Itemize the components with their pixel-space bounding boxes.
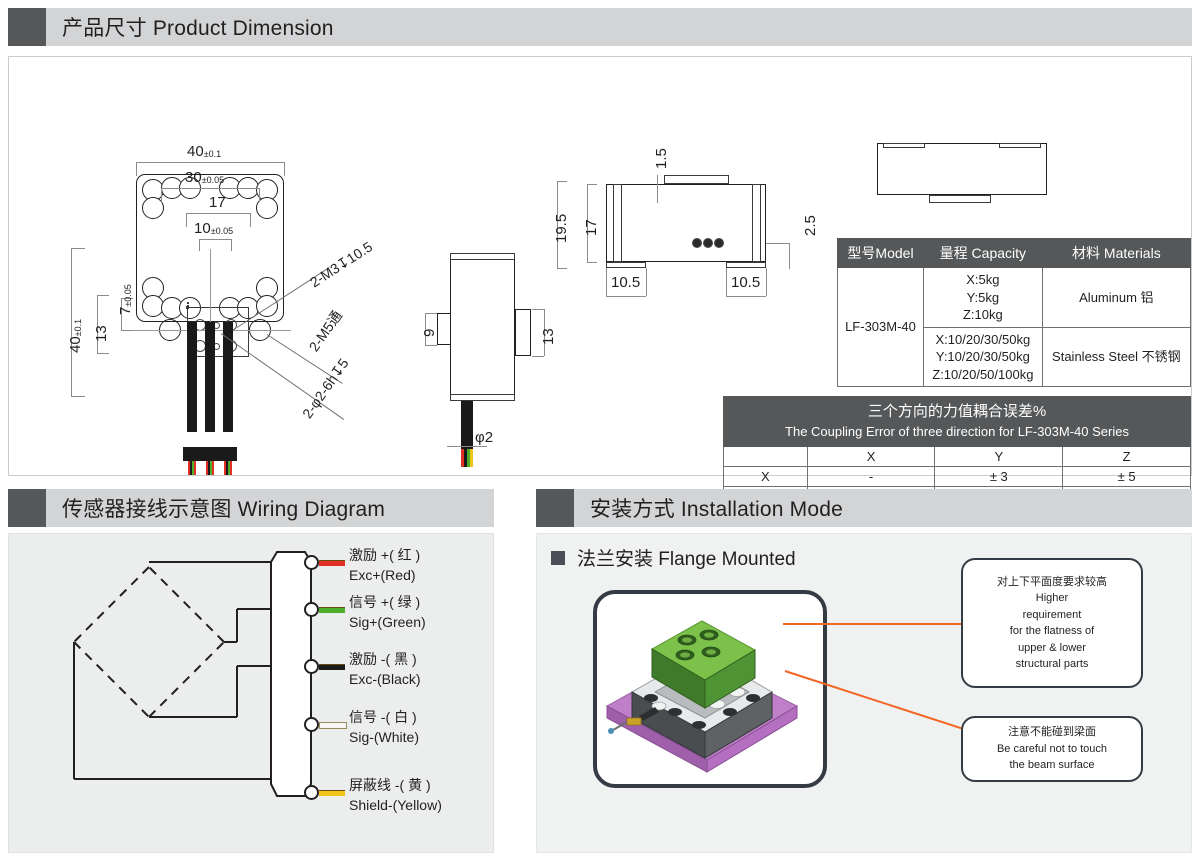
installation-mode-section: 安装方式 Installation Mode 法兰安装 Flange Mount… bbox=[536, 489, 1192, 853]
aux-view-body bbox=[877, 143, 1047, 195]
wire-stub-exc-plus bbox=[319, 560, 345, 566]
ext-line bbox=[161, 188, 162, 202]
section-tab-marker bbox=[8, 8, 46, 46]
cell-capacity-alu: X:5kg Y:5kg Z:10kg bbox=[923, 268, 1042, 328]
center-pattern-outline bbox=[187, 302, 189, 304]
wire-label-sig-minus: 信号 -( 白 ) Sig-(White) bbox=[349, 707, 419, 748]
side-view-bottom-plate bbox=[450, 394, 515, 401]
dim-19-5: 19.5 bbox=[553, 214, 570, 243]
wire-terminal-sig-plus bbox=[304, 602, 319, 617]
side-view-top-plate bbox=[450, 253, 515, 260]
wire-terminal-sig-minus bbox=[304, 717, 319, 732]
model-specification-table: 型号Model 量程 Capacity 材料 Materials LF-303M… bbox=[837, 238, 1191, 387]
dim-line-10-5-right bbox=[726, 296, 766, 297]
wire-label-en: Exc+(Red) bbox=[349, 565, 420, 585]
wire-label-cn: 信号 -( 白 ) bbox=[349, 707, 419, 727]
wire-stub-sig-plus bbox=[319, 607, 345, 613]
cable-ferrule bbox=[219, 447, 237, 461]
dim-line-10 bbox=[199, 239, 231, 240]
coupling-header-row: X Y Z bbox=[724, 446, 1191, 466]
callout-line: for the flatness of bbox=[1010, 623, 1094, 640]
capacity-y: Y:5kg bbox=[928, 289, 1038, 307]
dim-value: 40 bbox=[67, 336, 84, 353]
dim-value: 40 bbox=[187, 143, 204, 160]
wire-label-sig-plus: 信号 +( 绿 ) Sig+(Green) bbox=[349, 592, 426, 633]
callout-pin: 2-φ2-6h↧5 bbox=[299, 355, 353, 421]
dim-tolerance: ±0.1 bbox=[73, 319, 83, 336]
side-view-body bbox=[450, 253, 515, 401]
top-view-foot-right bbox=[726, 262, 766, 268]
install-section-header: 安装方式 Installation Mode bbox=[536, 489, 1192, 527]
cable-connector bbox=[271, 552, 311, 796]
dim-17-top: 17 bbox=[583, 219, 600, 236]
ext-line bbox=[766, 243, 789, 244]
side-view-right-tab bbox=[515, 309, 531, 356]
flange-mounted-label: 法兰安装 Flange Mounted bbox=[577, 544, 796, 571]
ext-line bbox=[97, 295, 109, 296]
dim-line-13h bbox=[97, 295, 98, 353]
table-row: LF-303M-40 X:5kg Y:5kg Z:10kg Aluminum 铝 bbox=[838, 268, 1191, 328]
coupling-title-cell: 三个方向的力值耦合误差% The Coupling Error of three… bbox=[724, 397, 1191, 447]
dim-line-30 bbox=[161, 188, 259, 189]
callout-m5: 2-M5通 bbox=[304, 306, 347, 355]
wiring-diagram-panel: 激励 +( 红 ) Exc+(Red) 信号 +( 绿 ) Sig+(Green… bbox=[8, 533, 494, 853]
cable bbox=[187, 322, 197, 432]
dim-10-5-right: 10.5 bbox=[731, 274, 760, 291]
wire-label-en: Sig-(White) bbox=[349, 727, 419, 747]
table-header-row: 型号Model 量程 Capacity 材料 Materials bbox=[838, 239, 1191, 268]
ext-line bbox=[186, 213, 187, 227]
wiring-section-title: 传感器接线示意图 Wiring Diagram bbox=[46, 489, 385, 527]
ext-line bbox=[425, 313, 437, 314]
ext-line bbox=[71, 248, 85, 249]
cell-material-steel: Stainless Steel 不锈钢 bbox=[1042, 327, 1190, 387]
wire-stub-exc-minus bbox=[319, 664, 345, 670]
ext-line bbox=[532, 356, 544, 357]
wire-terminal-exc-minus bbox=[304, 659, 319, 674]
ext-line bbox=[199, 239, 200, 251]
wiring-diagram-section: 传感器接线示意图 Wiring Diagram bbox=[8, 489, 494, 853]
callout-m3: 2-M3↧10.5 bbox=[307, 238, 376, 291]
dim-tolerance: ±0.1 bbox=[204, 149, 221, 159]
coupling-cell: ± 3 bbox=[935, 466, 1063, 486]
coupling-col-z: Z bbox=[1063, 446, 1191, 466]
coupling-title-row: 三个方向的力值耦合误差% The Coupling Error of three… bbox=[724, 397, 1191, 447]
ext-line bbox=[557, 181, 567, 182]
dim-10-width: 10±0.05 bbox=[194, 220, 233, 237]
ext-line bbox=[606, 268, 607, 296]
dim-cable-dia: φ2 bbox=[475, 429, 493, 446]
wire-terminal-shield bbox=[304, 785, 319, 800]
side-view-left-tab bbox=[437, 313, 451, 345]
dim-7-height: 7±0.05 bbox=[117, 284, 134, 315]
wire-stub-shield bbox=[319, 790, 345, 796]
top-view-top-pad bbox=[664, 175, 729, 184]
section-tab-marker bbox=[8, 489, 46, 527]
flange-assembly-render bbox=[593, 590, 827, 788]
dim-13-height: 13 bbox=[93, 325, 110, 342]
dim-9-side: 9 bbox=[421, 329, 438, 337]
coupling-cell: ± 5 bbox=[1063, 466, 1191, 486]
aux-view-top-right bbox=[999, 143, 1041, 148]
dim-tolerance: ±0.05 bbox=[123, 284, 133, 306]
ext-line bbox=[97, 353, 109, 354]
table-row: X - ± 3 ± 5 bbox=[724, 466, 1191, 486]
cable-exit-hole bbox=[714, 238, 724, 248]
callout-flatness-requirement: 对上下平面度要求较高 Higher requirement for the fl… bbox=[961, 558, 1143, 688]
dim-line-17 bbox=[186, 213, 250, 214]
dim-value: 30 bbox=[185, 169, 202, 186]
side-view-cable bbox=[461, 401, 473, 449]
ext-line bbox=[284, 162, 285, 176]
ext-line bbox=[136, 162, 137, 176]
side-view-wire-tail bbox=[461, 449, 473, 467]
wire-label-cn: 信号 +( 绿 ) bbox=[349, 592, 426, 612]
dim-1-5: 1.5 bbox=[653, 148, 670, 169]
capacity-z: Z:10kg bbox=[928, 306, 1038, 324]
wire-label-cn: 激励 +( 红 ) bbox=[349, 545, 420, 565]
dim-line-1-5 bbox=[657, 175, 658, 203]
dimension-drawing-panel: 40±0.1 30±0.05 17 10±0.05 40±0.1 13 bbox=[8, 56, 1192, 476]
dim-line-10-5-left bbox=[606, 296, 646, 297]
dim-30-width: 30±0.05 bbox=[185, 169, 224, 186]
install-section-title: 安装方式 Installation Mode bbox=[574, 489, 843, 527]
wire-tail bbox=[206, 461, 214, 475]
ext-line bbox=[250, 213, 251, 227]
dimension-section-header: 产品尺寸 Product Dimension bbox=[8, 8, 1192, 46]
dim-40-width: 40±0.1 bbox=[187, 143, 221, 160]
leader-line-flatness bbox=[783, 623, 961, 625]
col-materials: 材料 Materials bbox=[1042, 239, 1190, 268]
ext-line bbox=[231, 239, 232, 251]
ext-line bbox=[587, 184, 597, 185]
ext-line bbox=[425, 345, 437, 346]
ext-line bbox=[587, 262, 597, 263]
wiring-section-header: 传感器接线示意图 Wiring Diagram bbox=[8, 489, 494, 527]
cell-material-alu: Aluminum 铝 bbox=[1042, 268, 1190, 328]
wire-label-exc-plus: 激励 +( 红 ) Exc+(Red) bbox=[349, 545, 420, 586]
coupling-col-y: Y bbox=[935, 446, 1063, 466]
callout-beam-warning: 注意不能碰到梁面 Be careful not to touch the bea… bbox=[961, 716, 1143, 782]
callout-line: Higher bbox=[1036, 590, 1068, 607]
top-view-right-rib bbox=[752, 184, 761, 262]
coupling-col-x: X bbox=[807, 446, 935, 466]
cable-ferrule bbox=[183, 447, 201, 461]
aux-view-top-left bbox=[883, 143, 925, 148]
wire-tail bbox=[224, 461, 232, 475]
dim-17-width: 17 bbox=[209, 194, 226, 211]
dim-2-5: 2.5 bbox=[802, 215, 819, 236]
ext-line bbox=[121, 330, 133, 331]
capacity-x: X:5kg bbox=[928, 271, 1038, 289]
wire-terminal-exc-plus bbox=[304, 555, 319, 570]
wire-label-cn: 激励 -( 黑 ) bbox=[349, 649, 421, 669]
dim-value: 10 bbox=[194, 220, 211, 237]
aux-view-bottom-tab bbox=[929, 195, 991, 203]
dim-tolerance: ±0.05 bbox=[211, 226, 233, 236]
dim-line-2-5 bbox=[789, 243, 790, 269]
callout-line: 对上下平面度要求较高 bbox=[997, 574, 1107, 591]
ext-line bbox=[726, 268, 727, 296]
cell-capacity-steel: X:10/20/30/50kg Y:10/20/30/50kg Z:10/20/… bbox=[923, 327, 1042, 387]
wire-label-exc-minus: 激励 -( 黑 ) Exc-(Black) bbox=[349, 649, 421, 690]
callout-line: 注意不能碰到梁面 bbox=[1008, 724, 1096, 741]
top-view-left-rib bbox=[613, 184, 622, 262]
dim-value: 7 bbox=[117, 307, 134, 315]
dim-line-40 bbox=[136, 162, 284, 163]
section-tab-marker bbox=[536, 489, 574, 527]
callout-line: Be careful not to touch bbox=[997, 741, 1107, 758]
dim-line-cable bbox=[447, 446, 487, 447]
wire-label-shield: 屏蔽线 -( 黄 ) Shield-(Yellow) bbox=[349, 775, 442, 816]
col-model: 型号Model bbox=[838, 239, 924, 268]
wire-label-en: Shield-(Yellow) bbox=[349, 795, 442, 815]
bridge-diamond bbox=[74, 567, 224, 717]
ext-line bbox=[557, 268, 567, 269]
cable bbox=[205, 322, 215, 432]
assembly-3d-illustration bbox=[597, 594, 815, 776]
wire-tail bbox=[188, 461, 196, 475]
ext-line bbox=[646, 268, 647, 296]
cable-exit-hole bbox=[692, 238, 702, 248]
ext-line bbox=[766, 268, 767, 296]
ext-line bbox=[532, 309, 544, 310]
dim-40-height: 40±0.1 bbox=[67, 319, 84, 353]
dim-tolerance: ±0.05 bbox=[202, 175, 224, 185]
callout-line: the beam surface bbox=[1010, 757, 1095, 774]
product-dimension-section: 产品尺寸 Product Dimension bbox=[8, 8, 1192, 476]
capacity-y: Y:10/20/30/50kg bbox=[928, 348, 1038, 366]
top-view-foot-left bbox=[606, 262, 646, 268]
capacity-x: X:10/20/30/50kg bbox=[928, 331, 1038, 349]
installation-panel: 法兰安装 Flange Mounted bbox=[536, 533, 1192, 853]
wire-label-en: Sig+(Green) bbox=[349, 612, 426, 632]
wire-label-cn: 屏蔽线 -( 黄 ) bbox=[349, 775, 442, 795]
dim-13-side: 13 bbox=[540, 328, 557, 345]
top-view-body bbox=[606, 184, 766, 262]
dim-10-5-left: 10.5 bbox=[611, 274, 640, 291]
callout-line: requirement bbox=[1023, 607, 1082, 624]
wire-label-en: Exc-(Black) bbox=[349, 669, 421, 689]
callout-line: upper & lower bbox=[1018, 640, 1086, 657]
coupling-cell: - bbox=[807, 466, 935, 486]
callout-line: structural parts bbox=[1016, 656, 1089, 673]
wire-stub-sig-minus bbox=[319, 722, 347, 729]
coupling-corner-cell bbox=[724, 446, 808, 466]
col-capacity: 量程 Capacity bbox=[923, 239, 1042, 268]
cable-exit-hole bbox=[703, 238, 713, 248]
bullet-square-icon bbox=[551, 551, 565, 565]
ext-line bbox=[259, 188, 260, 202]
coupling-row-label: X bbox=[724, 466, 808, 486]
ext-line bbox=[71, 396, 85, 397]
cell-model: LF-303M-40 bbox=[838, 268, 924, 387]
coupling-title-cn: 三个方向的力值耦合误差% bbox=[726, 401, 1188, 423]
coupling-title-en: The Coupling Error of three direction fo… bbox=[726, 423, 1188, 442]
dimension-section-title: 产品尺寸 Product Dimension bbox=[46, 8, 334, 46]
capacity-z: Z:10/20/50/100kg bbox=[928, 366, 1038, 384]
cable-ferrule bbox=[201, 447, 219, 461]
